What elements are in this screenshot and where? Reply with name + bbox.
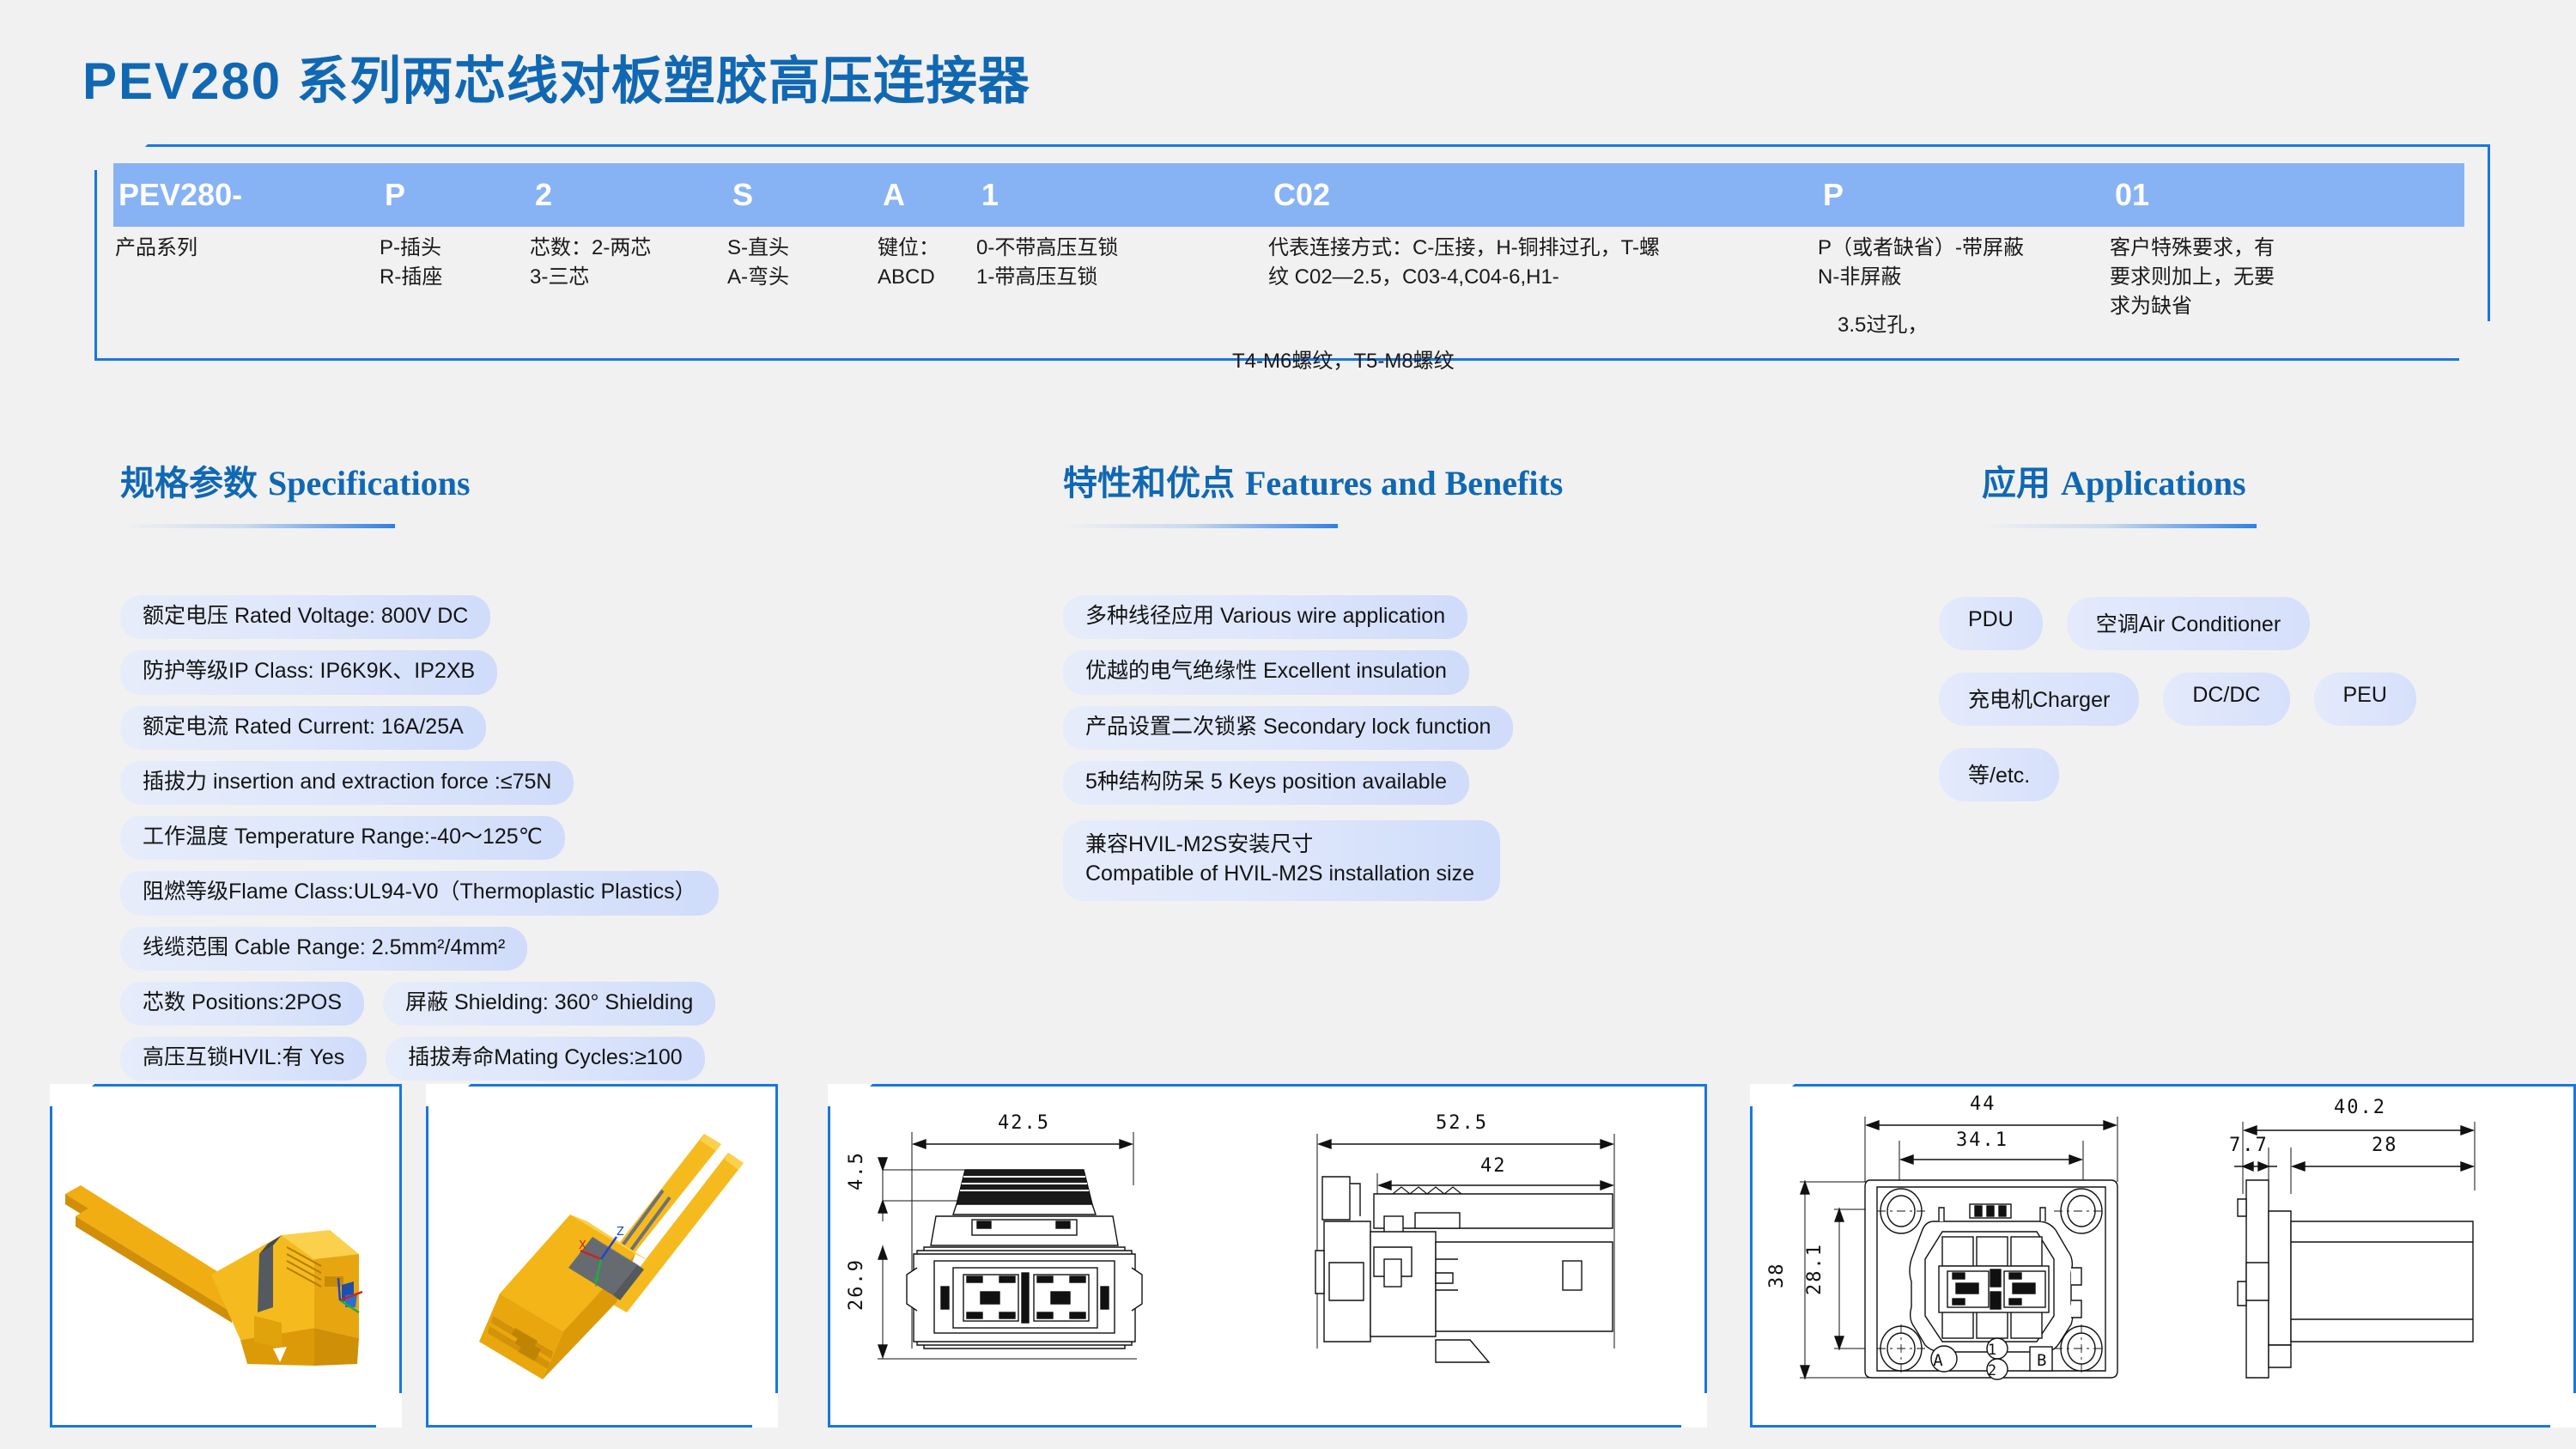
- decoder-description-row: 产品系列 P-插头 R-插座 芯数：2-两芯 3-三芯 S-直头 A-弯头 键位…: [113, 234, 2464, 345]
- desc-hvil: 0-不带高压互锁 1-带高压互锁: [976, 234, 1268, 345]
- card-body: [57, 1091, 395, 1421]
- svg-text:X: X: [579, 1239, 586, 1252]
- feature-item: 多种线径应用 Various wire application: [1063, 595, 1467, 639]
- spec-item: 额定电压 Rated Voltage: 800V DC: [120, 595, 490, 639]
- header-dimensional-drawing: 44 34.1 38 28.1 40.2 7.7 28 A B 1 2: [1757, 1091, 2569, 1421]
- pn-segment-termination: C02: [1268, 177, 1818, 213]
- application-tag: PDU: [1939, 597, 2043, 650]
- part-number-row: PEV280- P 2 S A 1 C02 P 01: [113, 163, 2464, 227]
- dim-plug-top-detail: 4.5: [846, 1151, 867, 1190]
- applications-heading: 应用Applications: [1930, 455, 2531, 505]
- spec-item: 插拔力 insertion and extraction force :≤75N: [120, 761, 574, 805]
- applications-underline: [1982, 524, 2257, 528]
- spec-item: 线缆范围 Cable Range: 2.5mm²/4mm²: [120, 927, 527, 971]
- specifications-heading-cn: 规格参数: [120, 465, 258, 502]
- applications-section: 应用Applications PDU 空调Air Conditioner 充电机…: [1930, 455, 2531, 824]
- desc-series: 产品系列: [113, 234, 380, 345]
- pn-segment-orientation: S: [727, 177, 878, 213]
- card-body: X Y Z: [433, 1091, 771, 1421]
- application-tag: 充电机Charger: [1939, 673, 2139, 726]
- pn-segment-type: P: [380, 177, 530, 213]
- applications-tags: PDU 空调Air Conditioner 充电机Charger DC/DC P…: [1930, 597, 2531, 801]
- drawing-card-plug: 42.5 4.5 26.9 52.5 42: [828, 1084, 1707, 1428]
- svg-text:Y: Y: [592, 1277, 599, 1290]
- features-underline: [1063, 524, 1338, 528]
- header-3d-render: X Y Z: [433, 1091, 771, 1421]
- features-heading-cn: 特性和优点: [1063, 465, 1235, 502]
- datasheet-page: PEV280 系列两芯线对板塑胶高压连接器 PEV280- P 2 S A 1 …: [0, 0, 2576, 1449]
- specifications-heading-en: Specifications: [268, 464, 471, 502]
- pn-segment-hvil: 1: [976, 177, 1268, 213]
- spec-item: 防护等级IP Class: IP6K9K、IP2XB: [120, 650, 497, 694]
- feature-item: 产品设置二次锁紧 Secondary lock function: [1063, 706, 1513, 750]
- drawing-card-header: 44 34.1 38 28.1 40.2 7.7 28 A B 1 2: [1750, 1084, 2576, 1428]
- application-tag: 等/etc.: [1939, 748, 2059, 801]
- dim-plug-height: 26.9: [846, 1258, 867, 1311]
- plug-3d-render: [57, 1091, 395, 1421]
- desc-termination: 代表连接方式：C-压接，H-铜排过孔，T-螺 纹 C02—2.5，C03-4,C…: [1268, 234, 1818, 345]
- desc-termination-extra-right: 3.5过孔，: [1838, 307, 1928, 338]
- spec-item-positions: 芯数 Positions:2POS: [120, 982, 364, 1026]
- desc-type: P-插头 R-插座: [380, 234, 530, 345]
- spec-item-mating-cycles: 插拔寿命Mating Cycles:≥100: [386, 1037, 704, 1081]
- spec-item-shielding: 屏蔽 Shielding: 360° Shielding: [383, 982, 715, 1026]
- spec-item-hvil: 高压互锁HVIL:有 Yes: [120, 1037, 367, 1081]
- pn-segment-key: A: [878, 177, 976, 213]
- application-tag: PEU: [2314, 673, 2416, 726]
- specifications-section: 规格参数Specifications 额定电压 Rated Voltage: 8…: [120, 455, 979, 1092]
- desc-key: 键位： ABCD: [878, 234, 976, 345]
- page-title: PEV280 系列两芯线对板塑胶高压连接器: [82, 40, 1030, 114]
- mark-1: 1: [1988, 1342, 1998, 1359]
- mark-a: A: [1933, 1351, 1944, 1370]
- dim-header-side-body: 28: [2372, 1135, 2398, 1156]
- dim-plug-side-overall: 52.5: [1436, 1112, 1488, 1134]
- spec-item: 阻燃等级Flame Class:UL94-V0（Thermoplastic Pl…: [120, 871, 719, 915]
- specifications-list: 额定电压 Rated Voltage: 800V DC 防护等级IP Class…: [120, 595, 979, 1081]
- card-body: 42.5 4.5 26.9 52.5 42: [835, 1091, 1700, 1421]
- svg-text:Z: Z: [617, 1226, 624, 1239]
- specifications-heading: 规格参数Specifications: [120, 455, 979, 505]
- product-photo-card-plug: [50, 1084, 402, 1428]
- desc-orientation: S-直头 A-弯头: [727, 234, 878, 345]
- application-tag: 空调Air Conditioner: [2067, 597, 2310, 650]
- applications-heading-cn: 应用: [1982, 465, 2050, 502]
- features-heading: 特性和优点Features and Benefits: [1063, 455, 1870, 505]
- feature-item: 优越的电气绝缘性 Excellent insulation: [1063, 650, 1469, 694]
- dim-header-hole-span: 34.1: [1956, 1129, 2008, 1151]
- features-list: 多种线径应用 Various wire application 优越的电气绝缘性…: [1063, 595, 1870, 901]
- dim-header-height: 38: [1766, 1263, 1788, 1289]
- features-section: 特性和优点Features and Benefits 多种线径应用 Variou…: [1063, 455, 1870, 912]
- desc-termination-extra-bottom: T4-M6螺纹，T5-M8螺纹: [1232, 344, 1455, 374]
- mark-b: B: [2037, 1351, 2048, 1370]
- features-heading-en: Features and Benefits: [1245, 464, 1563, 502]
- dim-header-side-overall: 40.2: [2334, 1097, 2386, 1118]
- product-title-cn: 系列两芯线对板塑胶高压连接器: [297, 52, 1030, 110]
- part-number-decoder: PEV280- P 2 S A 1 C02 P 01 产品系列 P-插头 R-插…: [94, 144, 2490, 361]
- card-body: 44 34.1 38 28.1 40.2 7.7 28 A B 1 2: [1757, 1091, 2569, 1421]
- dim-plug-width: 42.5: [998, 1112, 1050, 1134]
- applications-heading-en: Applications: [2061, 464, 2246, 502]
- desc-custom: 客户特殊要求，有 要求则加上，无要 求为缺省: [2110, 234, 2367, 345]
- product-code: PEV280: [82, 52, 282, 110]
- mark-2: 2: [1988, 1362, 1998, 1379]
- specifications-underline: [120, 524, 395, 528]
- dim-header-width: 44: [1970, 1093, 1996, 1115]
- feature-item: 5种结构防呆 5 Keys position available: [1063, 761, 1469, 805]
- pn-segment-shield: P: [1818, 177, 2110, 213]
- dim-plug-side-inner: 42: [1480, 1155, 1507, 1177]
- application-tag: DC/DC: [2163, 673, 2289, 726]
- plug-dimensional-drawing: 42.5 4.5 26.9 52.5 42: [835, 1091, 1700, 1421]
- dim-header-side-flange: 7.7: [2229, 1135, 2269, 1156]
- pn-segment-custom: 01: [2110, 177, 2149, 213]
- product-photo-card-header: X Y Z: [426, 1084, 778, 1428]
- dim-header-inner-height: 28.1: [1804, 1243, 1826, 1295]
- pn-segment-positions: 2: [530, 177, 727, 213]
- desc-positions: 芯数：2-两芯 3-三芯: [530, 234, 727, 345]
- feature-item-compatibility: 兼容HVIL-M2S安装尺寸 Compatible of HVIL-M2S in…: [1063, 820, 1500, 901]
- spec-item: 工作温度 Temperature Range:-40～125℃: [120, 816, 565, 860]
- spec-item: 额定电流 Rated Current: 16A/25A: [120, 706, 486, 750]
- pn-segment-series: PEV280-: [113, 177, 380, 213]
